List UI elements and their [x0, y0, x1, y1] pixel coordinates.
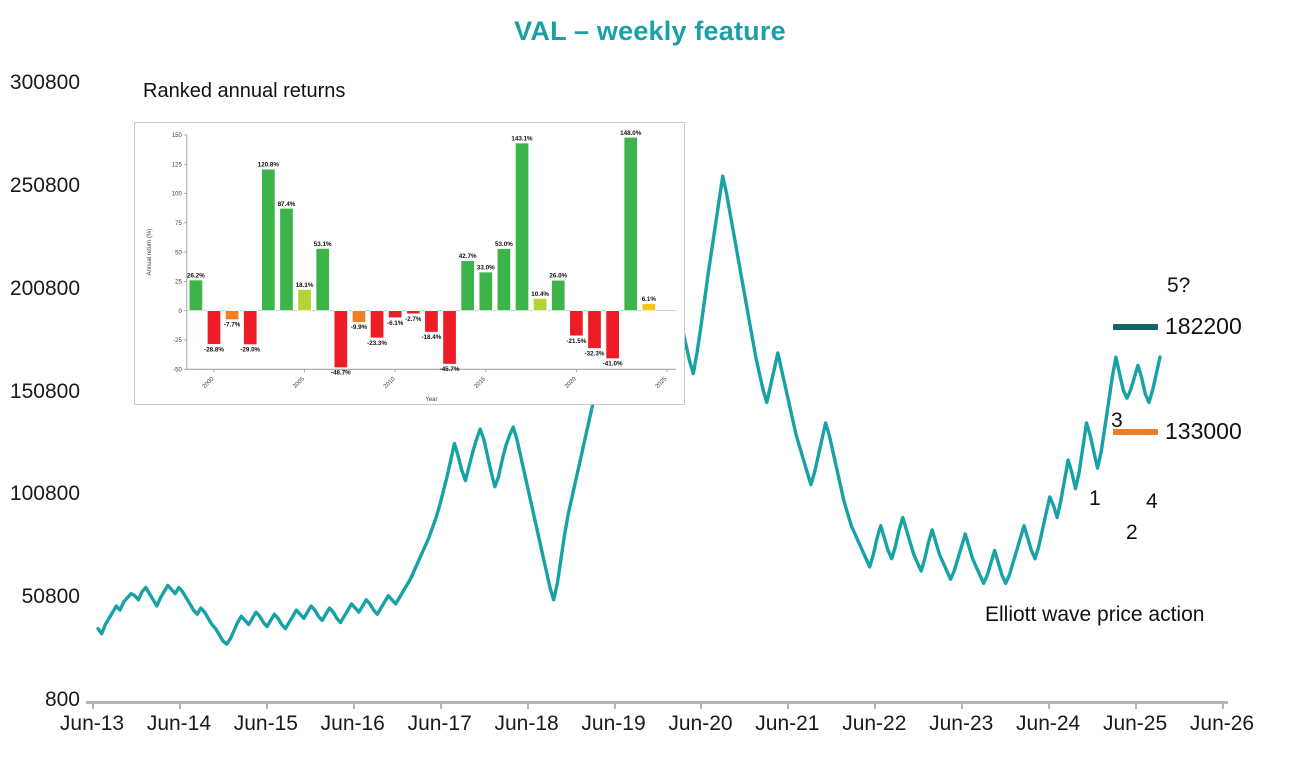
legend-label-lower-target: 133000: [1165, 418, 1242, 445]
inset-bar: [515, 143, 528, 311]
inset-bar-value-label: -28.8%: [204, 346, 224, 353]
inset-bar-value-label: 143.1%: [511, 136, 533, 143]
x-axis-tick-mark: [92, 701, 94, 709]
inset-bar: [624, 137, 637, 310]
x-axis-tick-mark: [1222, 701, 1224, 709]
inset-bar-value-label: 26.2%: [187, 272, 205, 279]
inset-y-tick-label: 0: [179, 309, 183, 315]
legend-swatch-lower-target: [1113, 429, 1158, 435]
y-axis-tick-label: 50800: [0, 585, 80, 609]
elliott-wave-label-4: 4: [1146, 490, 1158, 514]
inset-bar-value-label: -7.7%: [224, 322, 241, 329]
inset-bar-value-label: -2.7%: [405, 316, 422, 323]
x-axis-tick-mark: [1135, 701, 1137, 709]
inset-bar: [262, 169, 275, 311]
x-axis-tick-mark: [353, 701, 355, 709]
inset-bar-value-label: 53.0%: [495, 241, 513, 248]
inset-bar: [298, 289, 311, 310]
inset-y-tick-label: 50: [175, 250, 182, 256]
x-axis-tick-mark: [614, 701, 616, 709]
y-axis-tick-label: 200800: [0, 277, 80, 301]
x-axis-tick-mark: [179, 701, 181, 709]
inset-bar: [225, 311, 238, 320]
inset-x-tick-label: 2025: [655, 376, 669, 390]
inset-bar-value-label: 87.4%: [278, 201, 296, 208]
inset-bar: [407, 311, 420, 314]
inset-x-tick-label: 2015: [474, 376, 488, 390]
inset-x-tick-label: 2000: [202, 376, 216, 390]
inset-bar: [552, 280, 565, 310]
y-axis-tick-label: 250800: [0, 174, 80, 198]
inset-bar: [388, 311, 401, 318]
legend-item-upper-target[interactable]: 182200: [1113, 313, 1242, 340]
inset-bar: [280, 208, 293, 310]
inset-y-axis-title: Annual return (%): [147, 229, 153, 276]
inset-bar: [570, 311, 583, 336]
inset-bar: [425, 311, 438, 333]
elliott-wave-label-1: 1: [1089, 487, 1101, 511]
elliott-wave-label-2: 2: [1126, 521, 1138, 545]
inset-y-tick-label: 100: [172, 192, 183, 198]
inset-bar-value-label: 10.4%: [531, 291, 549, 298]
x-axis-tick-mark: [787, 701, 789, 709]
x-axis-tick-mark: [700, 701, 702, 709]
inset-bar: [642, 304, 655, 311]
y-axis-tick-label: 150800: [0, 380, 80, 404]
inset-bar: [189, 280, 202, 311]
inset-bar-value-label: -23.3%: [367, 340, 387, 347]
inset-bar-value-label: -9.9%: [351, 324, 368, 331]
inset-bar-value-label: 42.7%: [459, 253, 477, 260]
legend-label-upper-target: 182200: [1165, 313, 1242, 340]
inset-bar: [533, 298, 546, 310]
inset-bar-value-label: 6.1%: [642, 296, 657, 303]
inset-bar: [334, 311, 347, 368]
inset-bar-value-label: 53.1%: [314, 241, 332, 248]
inset-bar-value-label: 120.8%: [258, 162, 280, 169]
inset-bar-value-label: -45.7%: [440, 366, 460, 373]
x-axis-tick-label: Jun-26: [1162, 712, 1282, 736]
legend-item-lower-target[interactable]: 133000: [1113, 418, 1242, 445]
inset-bar: [316, 248, 329, 310]
inset-bar-value-label: 18.1%: [296, 282, 314, 289]
x-axis-tick-mark: [527, 701, 529, 709]
inset-y-tick-label: -25: [173, 338, 182, 344]
inset-y-tick-label: 125: [172, 162, 183, 168]
inset-bar: [479, 272, 492, 311]
inset-y-tick-label: 75: [175, 221, 182, 227]
ranked-annual-returns-inset: -50-250255075100125150Annual return (%)2…: [134, 122, 685, 405]
elliott-wave-caption: Elliott wave price action: [985, 603, 1204, 627]
inset-x-tick-label: 2010: [383, 376, 397, 390]
inset-bar-value-label: -41.0%: [603, 361, 623, 368]
inset-x-tick-label: 2020: [564, 376, 578, 390]
y-axis-tick-label: 800: [0, 688, 80, 712]
y-axis-tick-label: 300800: [0, 71, 80, 95]
inset-y-tick-label: 25: [175, 280, 182, 286]
elliott-wave-label-5q: 5?: [1167, 274, 1190, 298]
inset-bar-value-label: 26.0%: [549, 273, 567, 280]
x-axis-tick-mark: [1048, 701, 1050, 709]
inset-bar-value-label: -6.1%: [387, 320, 404, 327]
x-axis-tick-mark: [266, 701, 268, 709]
inset-bar-value-label: -29.0%: [240, 347, 260, 354]
inset-bar: [588, 311, 601, 349]
inset-bar: [244, 311, 257, 345]
inset-bar-value-label: -18.4%: [421, 334, 441, 341]
inset-bar: [207, 311, 220, 345]
inset-bar-value-label: -32.3%: [585, 350, 605, 357]
inset-bar: [606, 311, 619, 359]
y-axis-tick-label: 100800: [0, 482, 80, 506]
x-axis-tick-mark: [874, 701, 876, 709]
inset-bar-value-label: -48.7%: [331, 370, 351, 377]
x-axis-tick-mark: [961, 701, 963, 709]
inset-bar-value-label: 148.0%: [620, 130, 642, 137]
inset-title: Ranked annual returns: [143, 80, 345, 103]
chart-page: VAL – weekly feature 3008002508002008001…: [0, 0, 1300, 780]
inset-bar: [443, 311, 456, 365]
inset-bar-value-label: -21.5%: [566, 338, 586, 345]
inset-bar: [497, 249, 510, 311]
inset-y-tick-label: -50: [173, 367, 182, 373]
inset-bar-value-label: 33.0%: [477, 265, 495, 272]
inset-bar: [352, 311, 365, 323]
x-axis-tick-mark: [440, 701, 442, 709]
legend-swatch-upper-target: [1113, 324, 1158, 330]
page-title: VAL – weekly feature: [0, 16, 1300, 47]
inset-x-tick-label: 2005: [292, 376, 306, 390]
inset-x-axis-title: Year: [425, 397, 437, 403]
inset-bar: [461, 261, 474, 311]
inset-y-tick-label: 150: [172, 133, 183, 139]
inset-bar: [370, 311, 383, 338]
